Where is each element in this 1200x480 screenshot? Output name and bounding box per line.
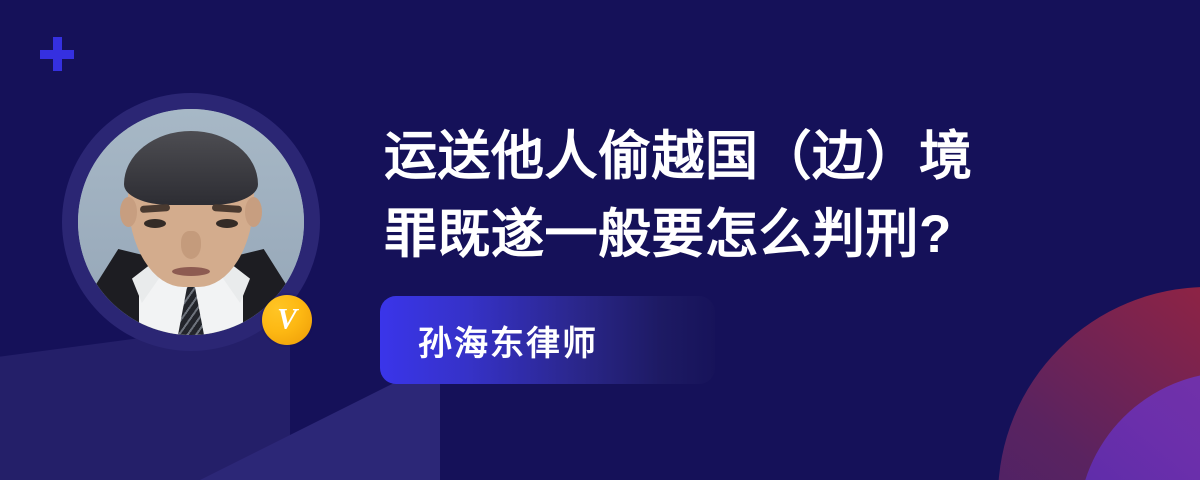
lawyer-name-label: 孙海东律师 xyxy=(418,316,598,365)
plus-icon-bar-vertical xyxy=(53,37,62,71)
plus-icon xyxy=(40,37,74,71)
portrait-ear-right xyxy=(245,197,262,227)
portrait-eye-left xyxy=(144,219,166,228)
portrait-ear-left xyxy=(120,197,137,227)
portrait-mouth xyxy=(172,267,210,276)
portrait-eye-right xyxy=(216,219,238,228)
headline-block: 运送他人偷越国（边）境 罪既遂一般要怎么判刑? xyxy=(384,118,1084,274)
verified-badge-icon: V xyxy=(262,295,312,345)
headline-line-2: 罪既遂一般要怎么判刑? xyxy=(384,196,1084,274)
headline-line-1: 运送他人偷越国（边）境 xyxy=(384,118,1084,196)
verified-check-glyph: V xyxy=(277,304,297,334)
lawyer-name-chip[interactable]: 孙海东律师 xyxy=(380,296,715,384)
portrait-nose xyxy=(181,231,201,259)
lawyer-qa-banner: V 运送他人偷越国（边）境 罪既遂一般要怎么判刑? 孙海东律师 xyxy=(0,0,1200,480)
